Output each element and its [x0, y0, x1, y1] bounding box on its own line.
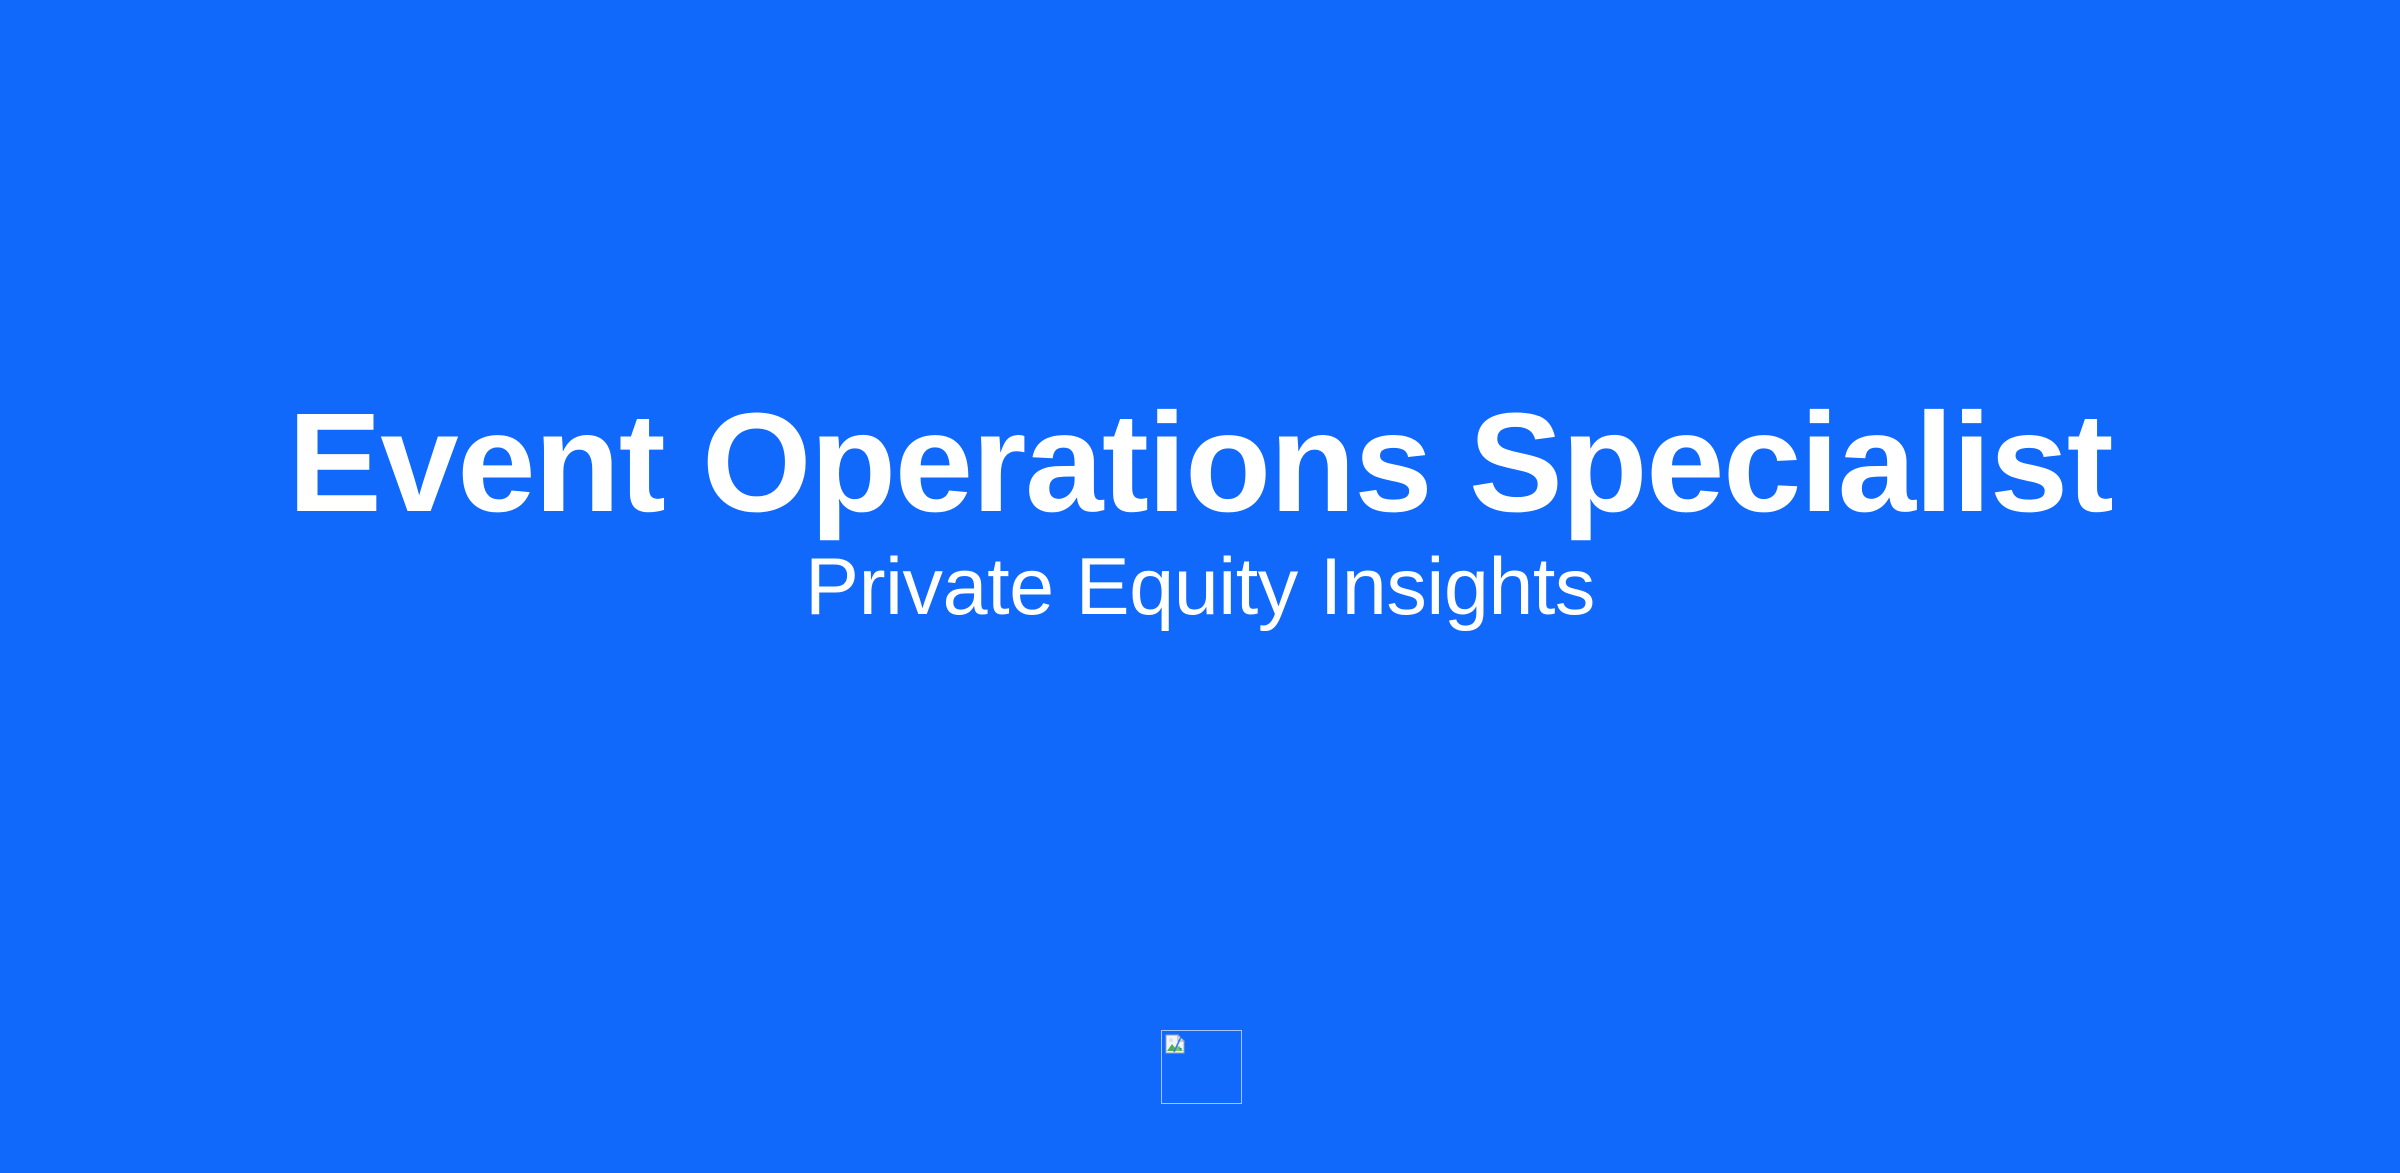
- title-slide: Event Operations Specialist Private Equi…: [0, 0, 2400, 1173]
- broken-image-icon: [1165, 1034, 1186, 1054]
- logo-image-placeholder: [1161, 1030, 1242, 1104]
- page-subtitle: Private Equity Insights: [805, 547, 1595, 628]
- hero-text-block: Event Operations Specialist Private Equi…: [0, 0, 2400, 1173]
- page-title: Event Operations Specialist: [288, 392, 2112, 533]
